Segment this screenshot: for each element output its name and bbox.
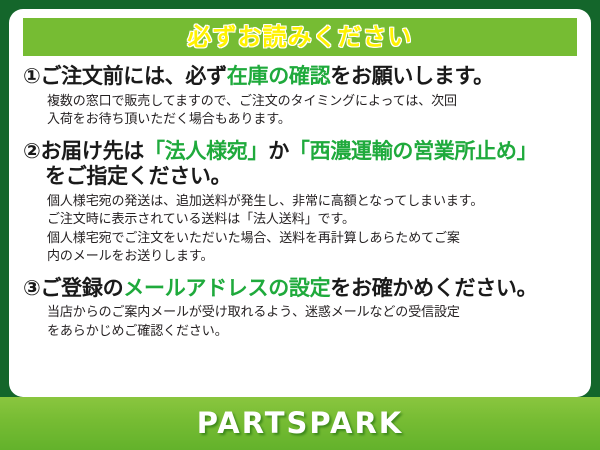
notice-item-2-heading: ②お届け先は「法人様宛」か「西濃運輸の営業所止め」をご指定ください。	[23, 139, 577, 190]
notice-item-1-body-line: 入荷をお待ち頂いただく場合もあります。	[47, 111, 577, 129]
notice-item-1-body-line: 複数の窓口で販売してますので、ご注文のタイミングによっては、次回	[47, 93, 577, 111]
notice-item-1-heading-before: ご注文前には、必ず	[40, 64, 226, 88]
notice-item-3-body: 当店からのご案内メールが受け取れるよう、迷惑メールなどの受信設定 をあらかじめご…	[23, 304, 577, 341]
notice-item-2-body-line: 個人様宅宛の発送は、追加送料が発生し、非常に高額となってしまいます。	[47, 193, 577, 211]
notice-item-3-heading-before: ご登録の	[40, 276, 123, 300]
notice-items: ①ご注文前には、必ず在庫の確認をお願いします。 複数の窓口で販売してますので、ご…	[21, 64, 579, 341]
notice-item-1-heading-after: をお願いします。	[330, 64, 494, 88]
notice-card: 必ずお読みください ①ご注文前には、必ず在庫の確認をお願いします。 複数の窓口で…	[0, 0, 600, 450]
page-title: 必ずお読みください	[188, 25, 413, 49]
notice-item-2-body: 個人様宅宛の発送は、追加送料が発生し、非常に高額となってしまいます。 ご注文時に…	[23, 193, 577, 267]
brand-logo: PARTSPARK	[197, 409, 404, 438]
notice-item-3-marker: ③	[23, 276, 40, 300]
notice-item-1-heading: ①ご注文前には、必ず在庫の確認をお願いします。	[23, 64, 577, 90]
notice-item-3-body-line: をあらかじめご確認ください。	[47, 323, 577, 341]
notice-item-2: ②お届け先は「法人様宛」か「西濃運輸の営業所止め」をご指定ください。 個人様宅宛…	[23, 139, 577, 267]
header-bar: 必ずお読みください	[23, 18, 577, 56]
notice-item-1: ①ご注文前には、必ず在庫の確認をお願いします。 複数の窓口で販売してますので、ご…	[23, 64, 577, 130]
notice-item-2-heading-before: お届け先は	[40, 139, 144, 163]
notice-item-3-body-line: 当店からのご案内メールが受け取れるよう、迷惑メールなどの受信設定	[47, 304, 577, 322]
notice-item-2-heading-continuation: をご指定ください。	[23, 164, 577, 190]
notice-item-2-body-line: 内のメールをお送りします。	[47, 248, 577, 266]
notice-item-3: ③ご登録のメールアドレスの設定をお確かめください。 当店からのご案内メールが受け…	[23, 276, 577, 342]
notice-item-2-body-line: ご注文時に表示されている送料は「法人送料」です。	[47, 211, 577, 229]
notice-item-2-heading-highlight: 「法人様宛」	[144, 139, 268, 163]
notice-item-1-body: 複数の窓口で販売してますので、ご注文のタイミングによっては、次回 入荷をお待ち頂…	[23, 93, 577, 130]
notice-panel: 必ずお読みください ①ご注文前には、必ず在庫の確認をお願いします。 複数の窓口で…	[9, 9, 591, 397]
notice-item-2-marker: ②	[23, 139, 40, 163]
notice-item-3-heading-after: をお確かめください。	[330, 276, 537, 300]
notice-item-2-heading-middle: か	[268, 139, 289, 163]
notice-item-1-marker: ①	[23, 64, 40, 88]
notice-item-2-heading-highlight-2: 「西濃運輸の営業所止め」	[289, 139, 537, 163]
notice-item-3-heading-highlight: メールアドレスの設定	[123, 276, 330, 300]
notice-item-3-heading: ③ご登録のメールアドレスの設定をお確かめください。	[23, 276, 577, 302]
notice-item-1-heading-highlight: 在庫の確認	[227, 64, 331, 88]
notice-item-2-body-line: 個人様宅宛でご注文をいただいた場合、送料を再計算しあらためてご案	[47, 230, 577, 248]
footer-bar: PARTSPARK	[0, 397, 600, 450]
